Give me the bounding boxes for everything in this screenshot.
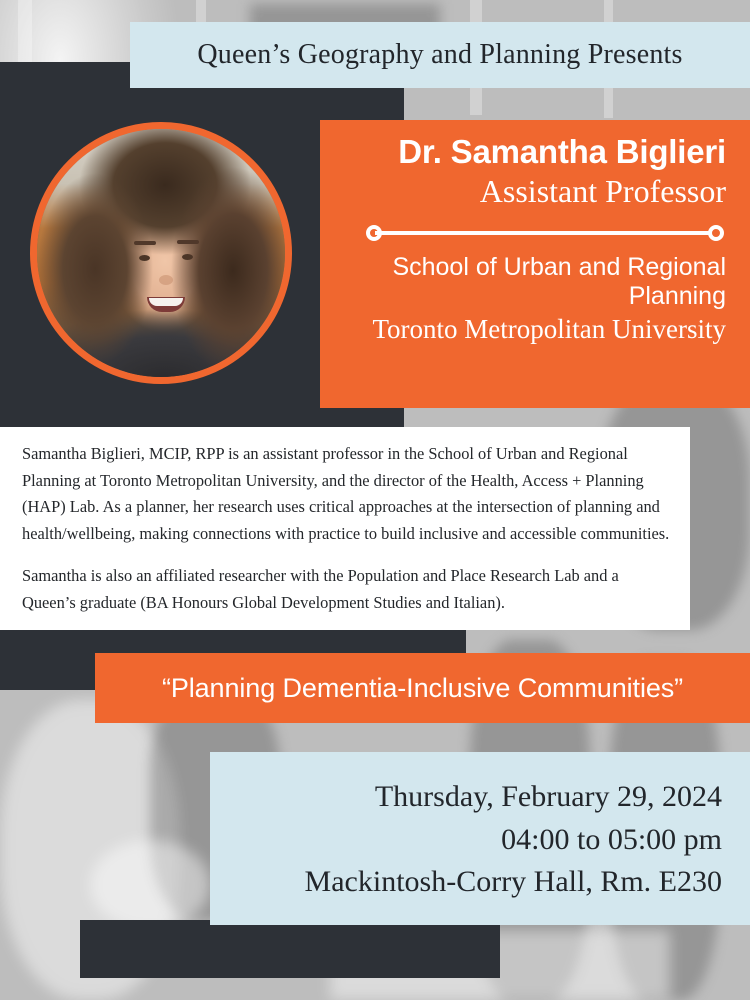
speaker-bio-panel: Samantha Biglieri, MCIP, RPP is an assis… — [0, 427, 690, 630]
charcoal-panel-bottom — [80, 920, 500, 978]
speaker-university: Toronto Metropolitan University — [342, 314, 726, 346]
portrait-mouth — [147, 297, 185, 312]
speaker-role: Assistant Professor — [342, 173, 726, 211]
header-banner: Queen’s Geography and Planning Presents — [130, 22, 750, 88]
portrait-eye-left — [139, 255, 150, 261]
event-location: Mackintosh-Corry Hall, Rm. E230 — [230, 861, 722, 904]
portrait-brow-left — [134, 241, 156, 245]
background-smudge — [90, 840, 210, 930]
header-banner-text: Queen’s Geography and Planning Presents — [197, 39, 682, 71]
speaker-portrait — [30, 122, 292, 384]
divider-line — [375, 231, 715, 235]
bio-paragraph-2: Samantha is also an affiliated researche… — [22, 563, 670, 616]
speaker-department: School of Urban and Regional Planning — [342, 253, 726, 311]
portrait-teeth — [149, 298, 183, 306]
ornamental-divider — [366, 223, 724, 243]
divider-dot-right-icon — [708, 225, 724, 241]
event-time: 04:00 to 05:00 pm — [230, 819, 722, 862]
event-details-panel: Thursday, February 29, 2024 04:00 to 05:… — [210, 752, 750, 925]
talk-title-bar: “Planning Dementia-Inclusive Communities… — [95, 653, 750, 723]
speaker-portrait-photo — [37, 129, 285, 377]
event-date: Thursday, February 29, 2024 — [230, 776, 722, 819]
speaker-name: Dr. Samantha Biglieri — [342, 134, 726, 171]
bio-paragraph-1: Samantha Biglieri, MCIP, RPP is an assis… — [22, 441, 670, 548]
talk-title: “Planning Dementia-Inclusive Communities… — [162, 673, 683, 704]
portrait-eye-right — [182, 254, 193, 260]
portrait-brow-right — [177, 240, 199, 244]
speaker-info-block: Dr. Samantha Biglieri Assistant Professo… — [320, 120, 750, 408]
event-poster: Queen’s Geography and Planning Presents … — [0, 0, 750, 1000]
portrait-nose — [159, 275, 173, 285]
